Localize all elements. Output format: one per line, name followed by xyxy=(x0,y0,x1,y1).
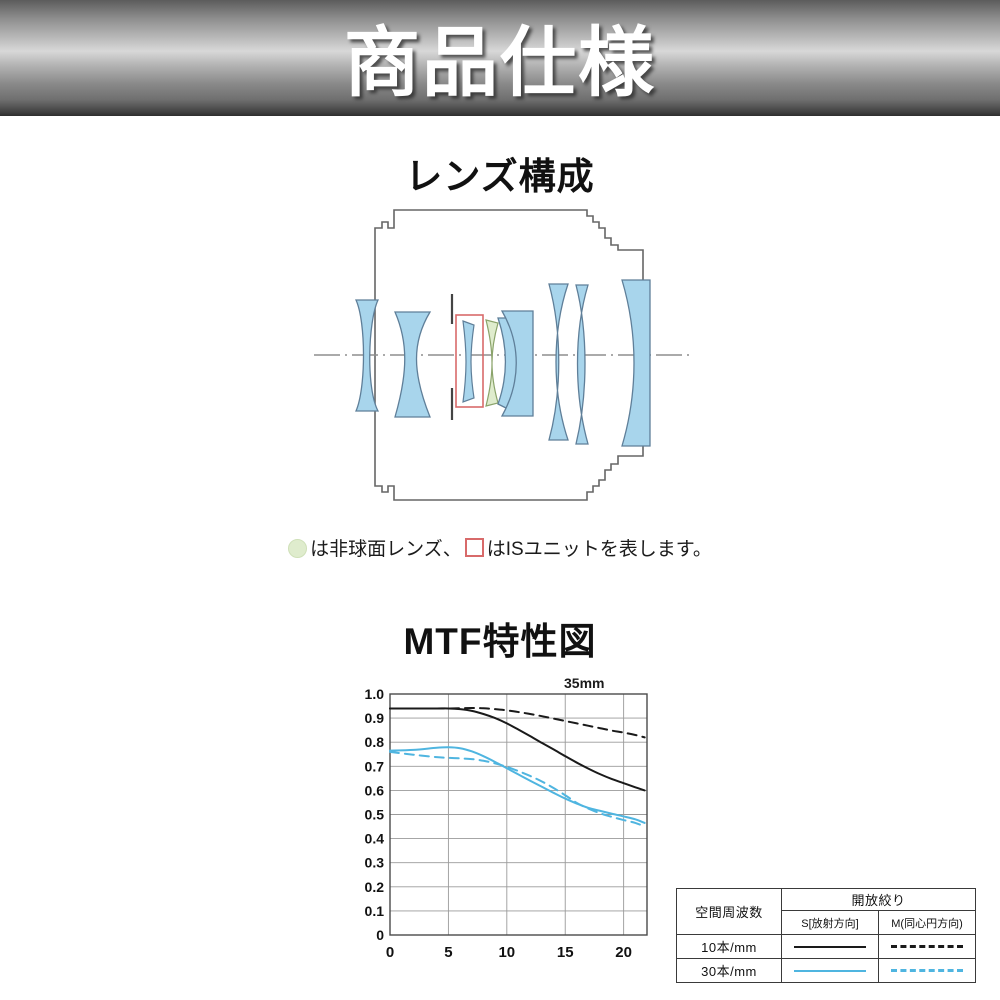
caption-text-is-unit: はISユニットを表します。 xyxy=(487,539,712,560)
mtf-heading: MTF特性図 xyxy=(0,611,1000,665)
curve xyxy=(390,708,645,737)
chart-x-tick-labels: 05101520 xyxy=(386,944,632,961)
page-title: 商品仕様 xyxy=(0,0,1000,116)
legend-row-10: 10本/mm xyxy=(677,935,976,959)
caption-text-aspherical: は非球面レンズ、 xyxy=(310,539,462,560)
aspherical-element xyxy=(486,320,498,406)
svg-text:5: 5 xyxy=(444,944,452,961)
svg-text:10: 10 xyxy=(498,944,515,961)
aspherical-circle-icon xyxy=(288,539,307,558)
svg-text:20: 20 xyxy=(615,944,632,961)
svg-text:0.9: 0.9 xyxy=(365,710,385,726)
svg-text:0: 0 xyxy=(376,927,384,943)
legend-frequency-header: 空間周波数 xyxy=(677,889,782,935)
is-unit-square-icon xyxy=(465,538,484,557)
svg-text:0.3: 0.3 xyxy=(365,855,385,871)
svg-text:0: 0 xyxy=(386,944,394,961)
curve xyxy=(390,747,645,823)
legend-swatch-10-m xyxy=(879,935,976,959)
legend-swatch-10-s xyxy=(782,935,879,959)
svg-text:0.1: 0.1 xyxy=(365,903,385,919)
page-header-banner: 商品仕様 xyxy=(0,0,1000,116)
svg-text:0.7: 0.7 xyxy=(365,758,385,774)
legend-row-label-30: 30本/mm xyxy=(677,959,782,983)
chart-curves xyxy=(390,708,645,827)
lens-construction-diagram xyxy=(300,192,700,522)
svg-text:0.6: 0.6 xyxy=(365,782,385,798)
legend-swatch-30-m xyxy=(879,959,976,983)
svg-text:0.2: 0.2 xyxy=(365,879,385,895)
legend-col-s: S[放射方向] xyxy=(782,911,879,935)
lens-legend-caption: は非球面レンズ、はISユニットを表します。 xyxy=(0,534,1000,561)
svg-text:1.0: 1.0 xyxy=(365,686,385,702)
legend-col-m: M(同心円方向) xyxy=(879,911,976,935)
chart-annotation-35mm: 35mm xyxy=(564,675,604,691)
mtf-chart: 00.10.20.30.40.50.60.70.80.91.0 05101520… xyxy=(350,672,670,972)
legend-row-label-10: 10本/mm xyxy=(677,935,782,959)
chart-y-tick-labels: 00.10.20.30.40.50.60.70.80.91.0 xyxy=(365,686,385,943)
legend-aperture-header: 開放絞り xyxy=(782,889,976,911)
curve xyxy=(390,752,645,827)
mtf-legend-table: 空間周波数 開放絞り S[放射方向] M(同心円方向) 10本/mm 30本/m… xyxy=(676,888,976,983)
svg-text:0.5: 0.5 xyxy=(365,807,385,823)
svg-text:0.4: 0.4 xyxy=(365,831,385,847)
legend-swatch-30-s xyxy=(782,959,879,983)
svg-text:0.8: 0.8 xyxy=(365,734,385,750)
svg-text:15: 15 xyxy=(557,944,574,961)
legend-row-30: 30本/mm xyxy=(677,959,976,983)
